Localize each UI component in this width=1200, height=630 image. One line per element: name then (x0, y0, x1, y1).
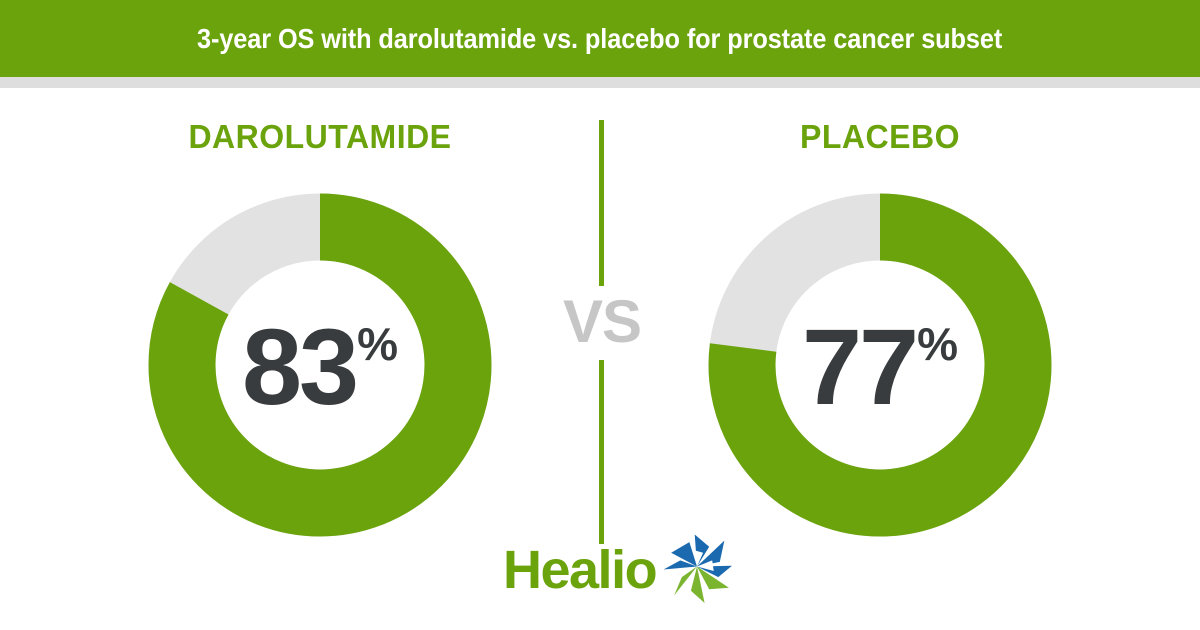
panel-placebo: PLACEBO 77 % (680, 120, 1080, 550)
donut-svg-placebo (700, 185, 1060, 545)
healio-logo: Healio (503, 540, 733, 610)
divider-line-bottom (599, 360, 604, 544)
infographic-canvas: 3-year OS with darolutamide vs. placebo … (0, 0, 1200, 630)
panel-label-darolutamide: DAROLUTAMIDE (126, 120, 514, 153)
vs-label: VS (540, 292, 664, 352)
header-bar: 3-year OS with darolutamide vs. placebo … (0, 0, 1200, 77)
healio-star-icon (659, 530, 735, 606)
donut-svg-darolutamide (140, 185, 500, 545)
header-underline-divider (0, 77, 1200, 88)
donut-chart-placebo: 77 % (700, 185, 1060, 545)
panel-darolutamide: DAROLUTAMIDE 83 % (120, 120, 520, 550)
divider-line-top (599, 120, 604, 286)
donut-chart-darolutamide: 83 % (140, 185, 500, 545)
healio-wordmark: Healio (503, 543, 656, 597)
panel-label-placebo: PLACEBO (686, 120, 1074, 153)
page-title: 3-year OS with darolutamide vs. placebo … (197, 25, 1002, 53)
